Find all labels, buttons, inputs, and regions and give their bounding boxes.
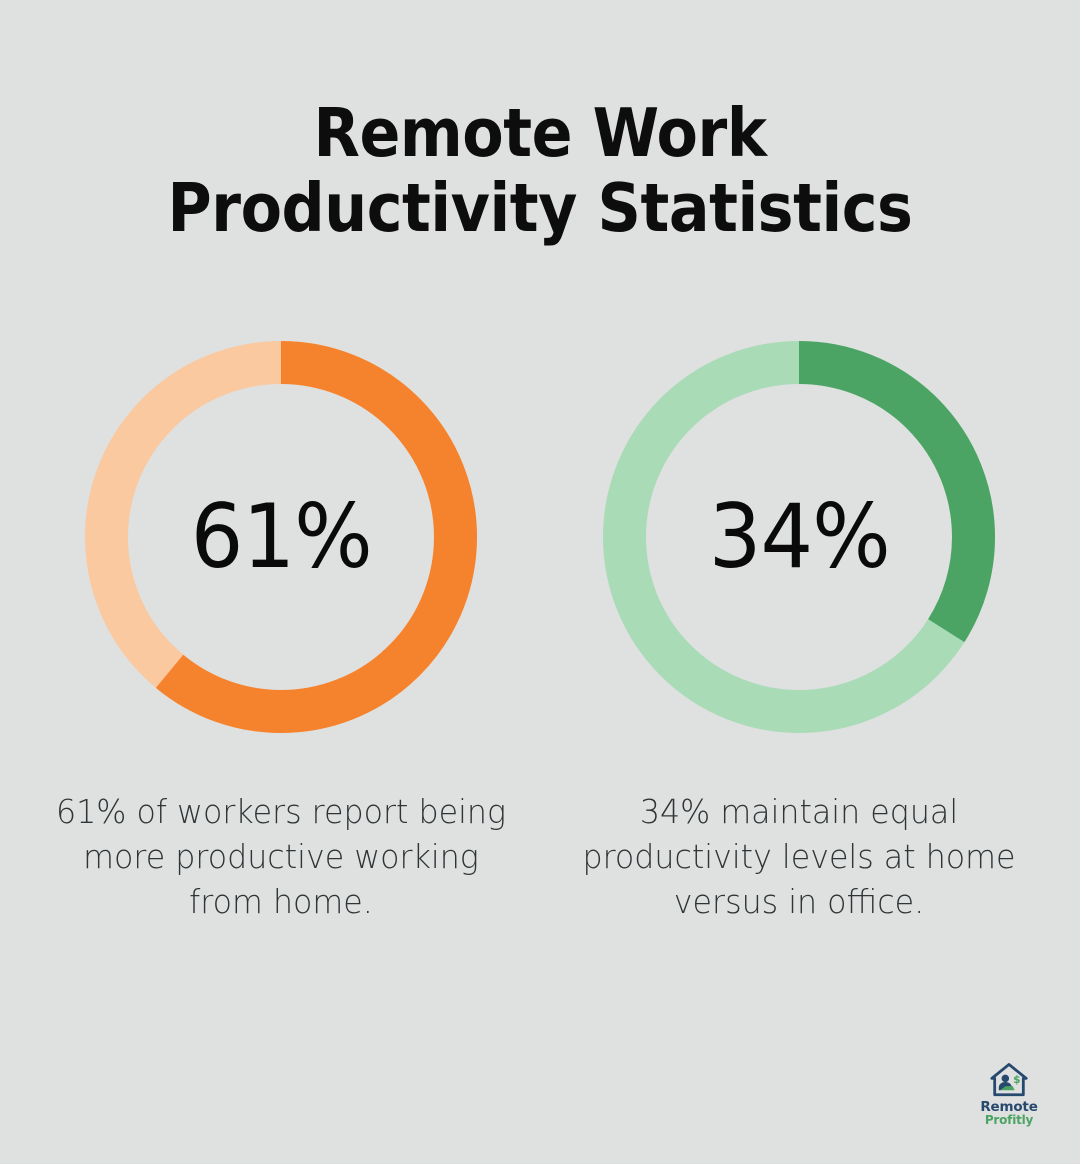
brand-wordmark: Remote Profitly: [980, 1100, 1037, 1127]
donut-chart-productivity-increase: 61%: [85, 341, 477, 733]
stat-caption-2: 34% maintain equal productivity levels a…: [573, 789, 1024, 925]
brand-name-line-2: Profitly: [980, 1114, 1037, 1126]
donut-chart-productivity-equal: 34%: [603, 341, 995, 733]
title-block: Remote Work Productivity Statistics: [60, 96, 1020, 246]
brand-name-line-1: Remote: [980, 1100, 1037, 1114]
donut-svg-2: [603, 341, 995, 733]
stat-card-productivity-increase: 61% 61% of workers report being more pro…: [22, 341, 540, 925]
stat-caption-1: 61% of workers report being more product…: [55, 789, 506, 925]
infographic-canvas: Remote Work Productivity Statistics 61% …: [0, 0, 1080, 1164]
donut-svg-1: [85, 341, 477, 733]
page-title: Remote Work Productivity Statistics: [108, 96, 972, 246]
stats-row: 61% 61% of workers report being more pro…: [0, 341, 1080, 925]
house-with-remote-worker-and-dollar-icon: $: [989, 1062, 1029, 1098]
stat-card-productivity-equal: 34% 34% maintain equal productivity leve…: [540, 341, 1058, 925]
brand-logo: $ Remote Profitly: [971, 1062, 1047, 1127]
svg-text:$: $: [1013, 1072, 1020, 1085]
